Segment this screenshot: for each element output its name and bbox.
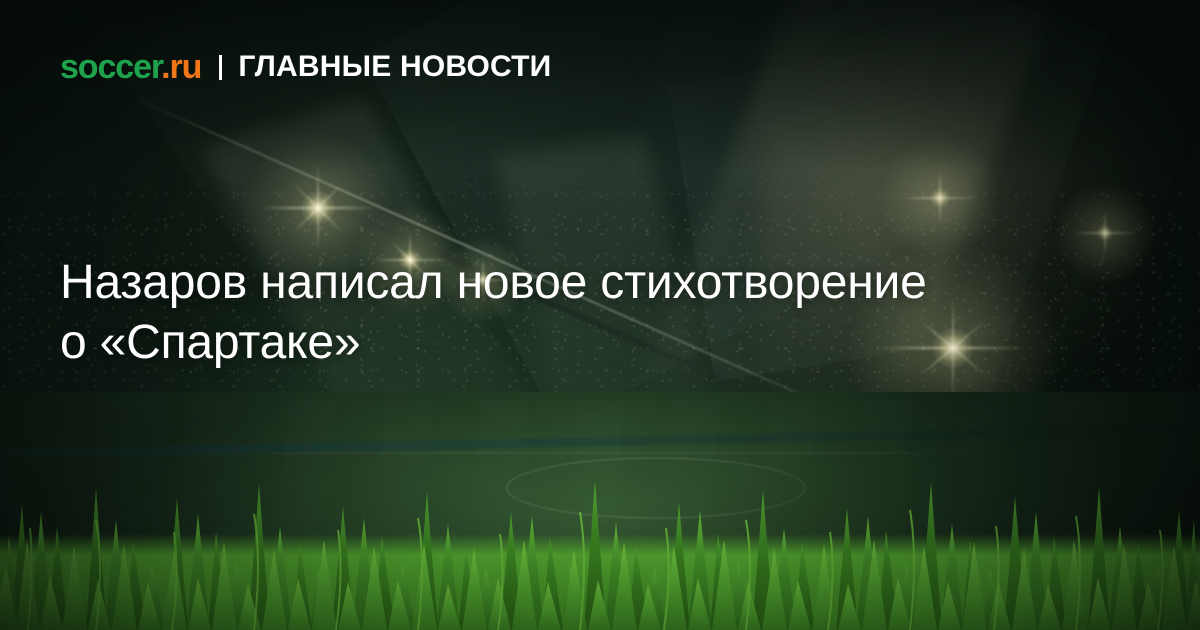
logo-name: soccer — [60, 48, 161, 86]
header-kicker: ГЛАВНЫЕ НОВОСТИ — [238, 52, 551, 82]
brand-header: soccer.ru ГЛАВНЫЕ НОВОСТИ — [60, 50, 551, 84]
page-title: Назаров написал новое стихотворение о «С… — [60, 253, 960, 374]
soccer-ru-logo[interactable]: soccer.ru — [60, 50, 201, 84]
news-share-card: soccer.ru ГЛАВНЫЕ НОВОСТИ Назаров написа… — [0, 0, 1200, 630]
logo-tld: .ru — [161, 48, 201, 86]
header-separator — [219, 55, 222, 80]
content-layer: soccer.ru ГЛАВНЫЕ НОВОСТИ Назаров написа… — [0, 0, 1200, 630]
